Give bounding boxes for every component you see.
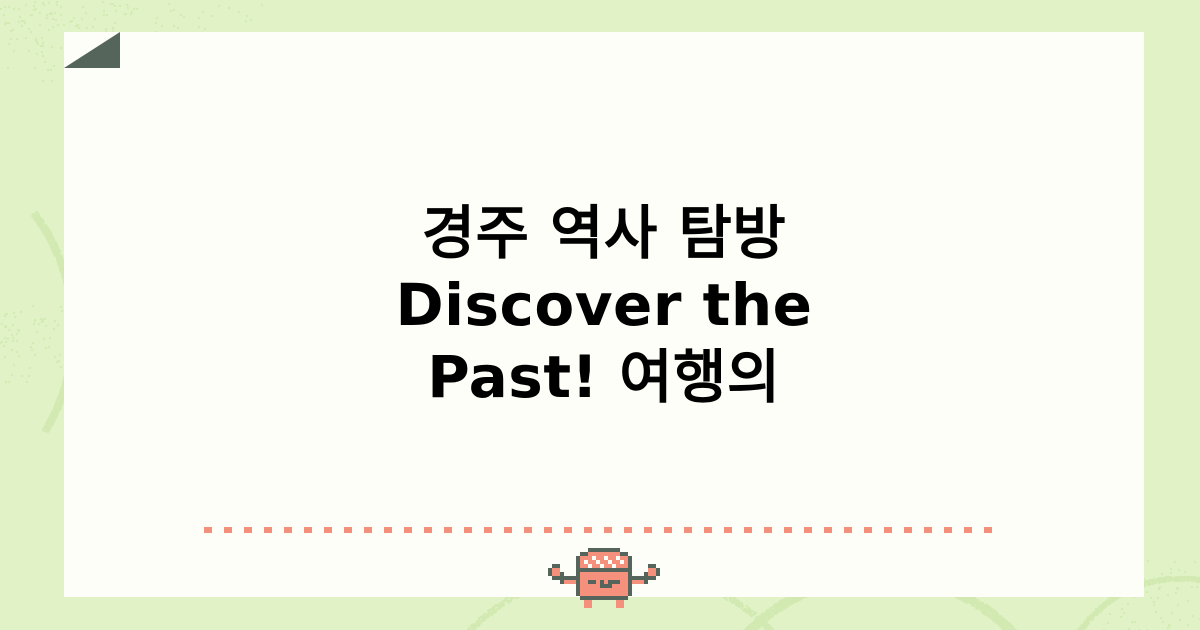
folded-corner-icon	[64, 32, 120, 68]
pixel-robot-icon	[544, 548, 664, 608]
title-line-2: Discover the	[64, 269, 1144, 341]
share-card: 경주 역사 탐방 Discover the Past! 여행의	[64, 32, 1144, 597]
page-title: 경주 역사 탐방 Discover the Past! 여행의	[64, 197, 1144, 413]
title-line-1: 경주 역사 탐방	[64, 197, 1144, 269]
mascot-container	[64, 548, 1144, 608]
divider-container	[64, 527, 1144, 533]
dotted-divider	[204, 527, 1004, 533]
title-line-3: Past! 여행의	[64, 341, 1144, 413]
